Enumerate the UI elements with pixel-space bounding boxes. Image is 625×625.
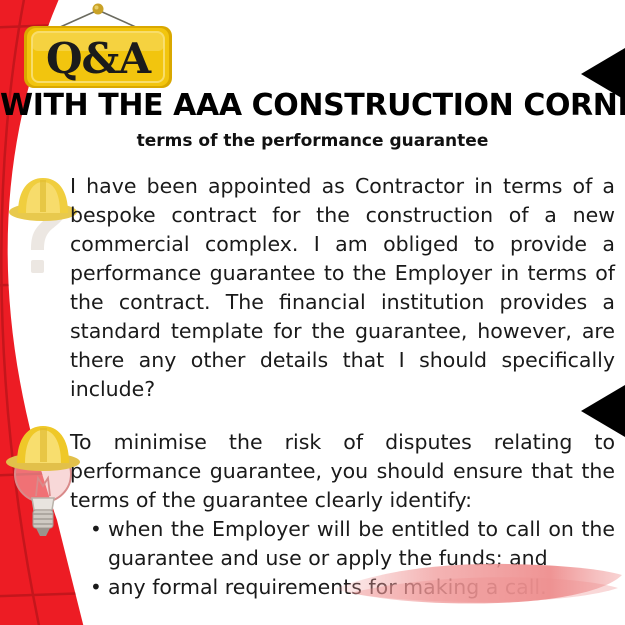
question-mark-hardhat-icon (2, 168, 80, 296)
page-title: WITH THE AAA CONSTRUCTION CORNER (0, 88, 625, 123)
answer-block: To minimise the risk of disputes relatin… (70, 428, 615, 602)
page-subtitle: terms of the performance guarantee (0, 131, 625, 151)
list-item: when the Employer will be entitled to ca… (108, 515, 615, 573)
question-text: I have been appointed as Contractor in t… (70, 172, 615, 404)
nail-icon (93, 4, 104, 15)
answer-intro-text: To minimise the risk of disputes relatin… (70, 428, 615, 515)
qa-hanging-sign: Q&A (18, 2, 178, 98)
qa-sign-label: Q&A (24, 28, 172, 88)
question-block: I have been appointed as Contractor in t… (70, 172, 615, 404)
qa-poster: Q&A WITH THE AAA CONSTRUCTION CORNER ter… (0, 0, 625, 625)
list-item: any formal requirements for making a cal… (108, 573, 615, 602)
answer-bullet-list: when the Employer will be entitled to ca… (70, 515, 615, 602)
